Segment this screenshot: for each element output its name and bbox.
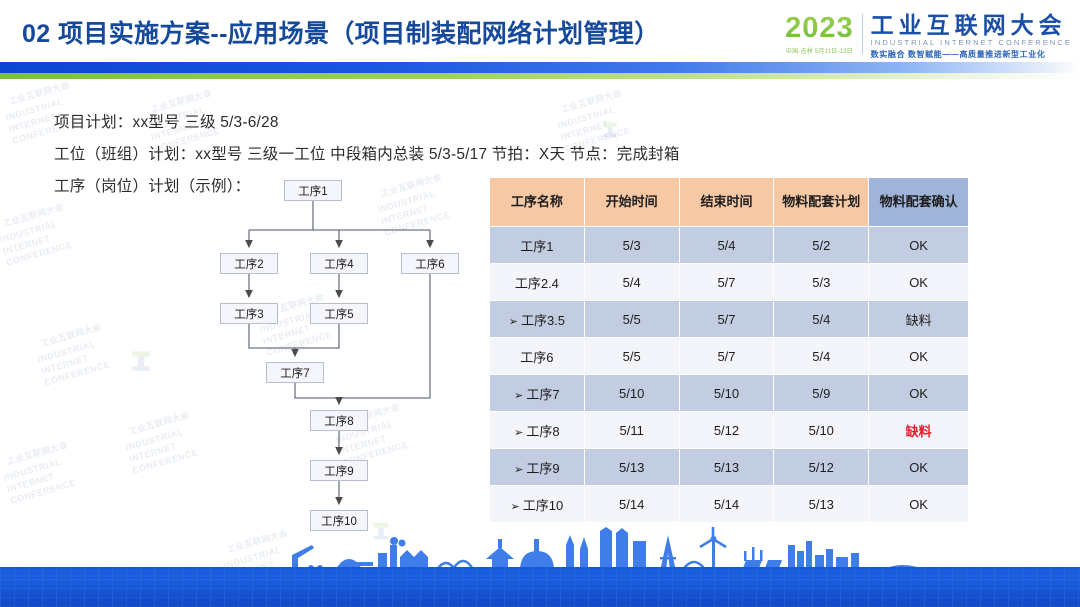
header-blue-bar [0, 62, 1080, 73]
cell-start-time: 5/4 [584, 264, 679, 301]
logo-text-block: 工业互联网大会 INDUSTRIAL INTERNET CONFERENCE 数… [871, 10, 1072, 60]
flow-node[interactable]: 工序9 [310, 460, 368, 481]
watermark-cn: 工业互联网大会 [6, 440, 70, 468]
cell-start-time: 5/11 [584, 412, 679, 449]
column-header-material-plan: 物料配套计划 [774, 178, 869, 227]
logo-year-block: 2023 中国·吉林 5月11日-13日 [785, 10, 854, 55]
cell-end-time: 5/14 [679, 486, 774, 523]
cell-process-name: ➢工序10 [490, 486, 585, 523]
column-header-process-name: 工序名称 [490, 178, 585, 227]
column-header-start-time: 开始时间 [584, 178, 679, 227]
logo-year: 2023 [785, 14, 854, 43]
cell-start-time: 5/13 [584, 449, 679, 486]
flow-node[interactable]: 工序3 [220, 303, 278, 324]
flow-node[interactable]: 工序1 [284, 180, 342, 201]
cell-process-name: 工序6 [490, 338, 585, 375]
cell-end-time: 5/10 [679, 375, 774, 412]
logo-divider [862, 14, 863, 54]
cell-material-plan: 5/10 [774, 412, 869, 449]
cell-material-plan: 5/13 [774, 486, 869, 523]
cell-material-confirm: OK [869, 264, 969, 301]
flow-node[interactable]: 工序4 [310, 253, 368, 274]
cell-end-time: 5/7 [679, 301, 774, 338]
cell-process-name: ➢工序3.5 [490, 301, 585, 338]
arrow-marker-icon: ➢ [511, 501, 520, 513]
conference-logo: 2023 中国·吉林 5月11日-13日 工业互联网大会 INDUSTRIAL … [785, 10, 1072, 62]
watermark-cn: 工业互联网大会 [2, 202, 66, 230]
cell-process-name: ➢工序7 [490, 375, 585, 412]
cell-start-time: 5/5 [584, 301, 679, 338]
cell-material-confirm: OK [869, 338, 969, 375]
logo-year-note: 中国·吉林 5月11日-13日 [785, 46, 854, 55]
table-row[interactable]: ➢工序105/145/145/13OK [490, 486, 969, 523]
table-row[interactable]: 工序15/35/45/2OK [490, 227, 969, 264]
watermark-cn: 工业互联网大会 [8, 80, 72, 108]
cell-material-plan: 5/4 [774, 301, 869, 338]
cell-process-name: 工序2.4 [490, 264, 585, 301]
cell-process-name: 工序1 [490, 227, 585, 264]
cell-end-time: 5/13 [679, 449, 774, 486]
watermark-cn: 工业互联网大会 [560, 88, 624, 116]
cell-material-plan: 5/4 [774, 338, 869, 375]
cell-material-plan: 5/12 [774, 449, 869, 486]
arrow-marker-icon: ➢ [514, 464, 523, 476]
logo-name-en: INDUSTRIAL INTERNET CONFERENCE [871, 38, 1072, 47]
cell-material-confirm: OK [869, 375, 969, 412]
cell-end-time: 5/7 [679, 264, 774, 301]
slide-canvas: 工业互联网大会 INDUSTRIAL INTERNET CONFERENCE 工… [0, 0, 1080, 607]
arrow-marker-icon: ➢ [509, 316, 518, 328]
cell-material-plan: 5/9 [774, 375, 869, 412]
cell-end-time: 5/12 [679, 412, 774, 449]
watermark-en: INDUSTRIAL INTERNET CONFERENCE [0, 215, 74, 269]
flow-connectors [180, 180, 480, 540]
column-header-end-time: 结束时间 [679, 178, 774, 227]
cell-end-time: 5/4 [679, 227, 774, 264]
column-header-material-confirm: 物料配套确认 [869, 178, 969, 227]
flow-node[interactable]: 工序6 [401, 253, 459, 274]
station-plan-line: 工位（班组）计划：xx型号 三级一工位 中段箱内总装 5/3-5/17 节拍：X… [54, 142, 680, 164]
skyline-decoration [0, 529, 1080, 607]
cell-material-confirm: OK [869, 486, 969, 523]
skyline-ground [0, 567, 1080, 607]
watermark-en: INDUSTRIAL INTERNET CONFERENCE [2, 453, 77, 507]
watermark-en: INDUSTRIAL INTERNET CONFERENCE [36, 335, 111, 389]
flow-node[interactable]: 工序8 [310, 410, 368, 431]
logo-slogan: 数实融合 数智赋能——高质量推进新型工业化 [871, 49, 1072, 60]
table-row[interactable]: ➢工序3.55/55/75/4缺料 [490, 301, 969, 338]
watermark-cn: 工业互联网大会 [40, 322, 104, 350]
cell-material-plan: 5/3 [774, 264, 869, 301]
arrow-marker-icon: ➢ [514, 390, 523, 402]
cell-material-confirm: 缺料 [869, 412, 969, 449]
cell-end-time: 5/7 [679, 338, 774, 375]
cell-process-name: ➢工序9 [490, 449, 585, 486]
slide-header: 02 项目实施方案--应用场景（项目制装配网络计划管理） 2023 中国·吉林 … [0, 0, 1080, 62]
cell-material-confirm: OK [869, 449, 969, 486]
cell-start-time: 5/10 [584, 375, 679, 412]
table-header-row: 工序名称 开始时间 结束时间 物料配套计划 物料配套确认 [490, 178, 969, 227]
table-row[interactable]: 工序65/55/75/4OK [490, 338, 969, 375]
cell-process-name: ➢工序8 [490, 412, 585, 449]
table-row[interactable]: ➢工序85/115/125/10缺料 [490, 412, 969, 449]
logo-name-cn: 工业互联网大会 [871, 13, 1072, 37]
flow-node[interactable]: 工序2 [220, 253, 278, 274]
cell-start-time: 5/5 [584, 338, 679, 375]
table-row[interactable]: 工序2.45/45/75/3OK [490, 264, 969, 301]
cell-material-confirm: 缺料 [869, 301, 969, 338]
flow-node[interactable]: 工序7 [266, 362, 324, 383]
watermark-logo-icon [128, 348, 154, 374]
page-title: 02 项目实施方案--应用场景（项目制装配网络计划管理） [22, 14, 660, 50]
project-plan-line: 项目计划：xx型号 三级 5/3-6/28 [54, 110, 279, 132]
watermark-logo-icon [600, 120, 620, 140]
table-row[interactable]: ➢工序75/105/105/9OK [490, 375, 969, 412]
process-flow-diagram: 工序1 工序2 工序4 工序6 工序3 工序5 工序7 工序8 工序9 工序10 [180, 180, 480, 540]
table-body: 工序15/35/45/2OK工序2.45/45/75/3OK➢工序3.55/55… [490, 227, 969, 523]
cell-material-confirm: OK [869, 227, 969, 264]
cell-material-plan: 5/2 [774, 227, 869, 264]
flow-node[interactable]: 工序5 [310, 303, 368, 324]
arrow-marker-icon: ➢ [514, 427, 523, 439]
process-schedule-table: 工序名称 开始时间 结束时间 物料配套计划 物料配套确认 工序15/35/45/… [489, 177, 969, 523]
header-green-bar [0, 73, 1080, 79]
table-row[interactable]: ➢工序95/135/135/12OK [490, 449, 969, 486]
cell-start-time: 5/3 [584, 227, 679, 264]
cell-start-time: 5/14 [584, 486, 679, 523]
